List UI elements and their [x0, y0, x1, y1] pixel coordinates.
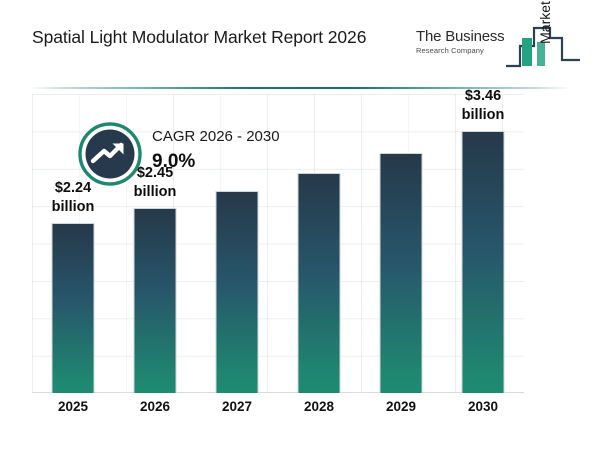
cagr-text-group: CAGR 2026 - 2030 9.0% [152, 126, 280, 175]
x-tick-2026: 2026 [114, 399, 196, 414]
x-tick-2027: 2027 [196, 399, 278, 414]
cagr-callout: CAGR 2026 - 2030 9.0% [78, 122, 348, 188]
bar-value-unit: billion [462, 106, 505, 125]
bar-2026[interactable] [134, 208, 177, 393]
bar-2030[interactable] [462, 131, 505, 393]
x-tick-2028: 2028 [278, 399, 360, 414]
bar-2025[interactable] [52, 223, 95, 393]
y-axis-label: Market Size (in USD Billion) [532, 0, 558, 107]
plot-area: $2.24 billion $2.45 billion [32, 94, 524, 393]
bar-chart: $2.24 billion $2.45 billion [0, 88, 600, 450]
bar-value-unit: billion [52, 198, 95, 217]
bar-value-label: $3.46 billion [462, 87, 505, 125]
cagr-period-label: CAGR 2026 - 2030 [152, 126, 280, 148]
bar-2029[interactable] [380, 153, 423, 393]
x-tick-2029: 2029 [360, 399, 442, 414]
bar-2027[interactable] [216, 191, 259, 393]
x-tick-2025: 2025 [32, 399, 114, 414]
page-title: Spatial Light Modulator Market Report 20… [32, 24, 392, 50]
trend-up-arrow-icon [78, 122, 142, 186]
bar-value-amount: $3.46 [462, 87, 505, 106]
market-report-chart-card: Spatial Light Modulator Market Report 20… [0, 0, 600, 450]
bar-slot: $3.46 billion [442, 94, 524, 393]
bar-slot [360, 94, 442, 393]
bar-2028[interactable] [298, 173, 341, 393]
x-tick-2030: 2030 [442, 399, 524, 414]
x-axis: 2025 2026 2027 2028 2029 2030 [32, 399, 524, 423]
cagr-value-label: 9.0% [152, 149, 280, 175]
header: Spatial Light Modulator Market Report 20… [0, 0, 600, 88]
